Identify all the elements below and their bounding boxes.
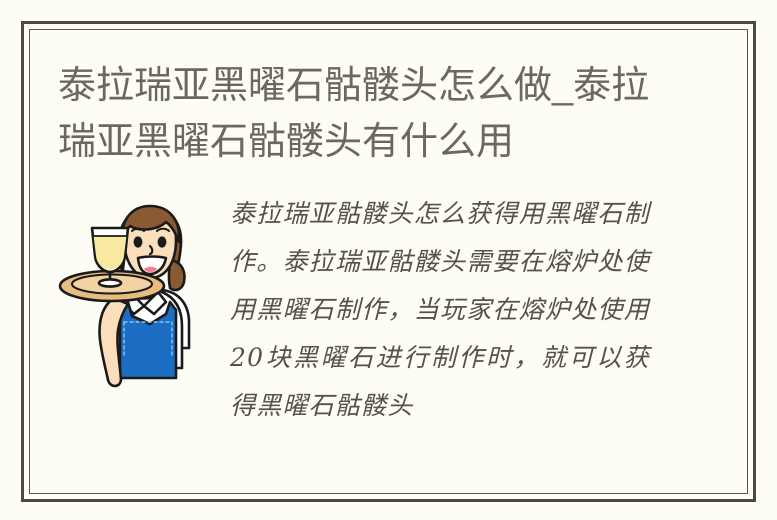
article-content: 泰拉瑞亚黑曜石骷髅头怎么做_泰拉瑞亚黑曜石骷髅头有什么用	[30, 30, 747, 493]
waitress-with-tray-illustration	[58, 198, 198, 396]
article-body-text: 泰拉瑞亚骷髅头怎么获得用黑曜石制作。泰拉瑞亚骷髅头需要在熔炉处使用黑曜石制作，当…	[230, 190, 650, 430]
page-title: 泰拉瑞亚黑曜石骷髅头怎么做_泰拉瑞亚黑曜石骷髅头有什么用	[58, 58, 666, 170]
article-page: 泰拉瑞亚黑曜石骷髅头怎么做_泰拉瑞亚黑曜石骷髅头有什么用	[0, 0, 777, 520]
article-body-row: 泰拉瑞亚骷髅头怎么获得用黑曜石制作。泰拉瑞亚骷髅头需要在熔炉处使用黑曜石制作，当…	[30, 190, 747, 480]
